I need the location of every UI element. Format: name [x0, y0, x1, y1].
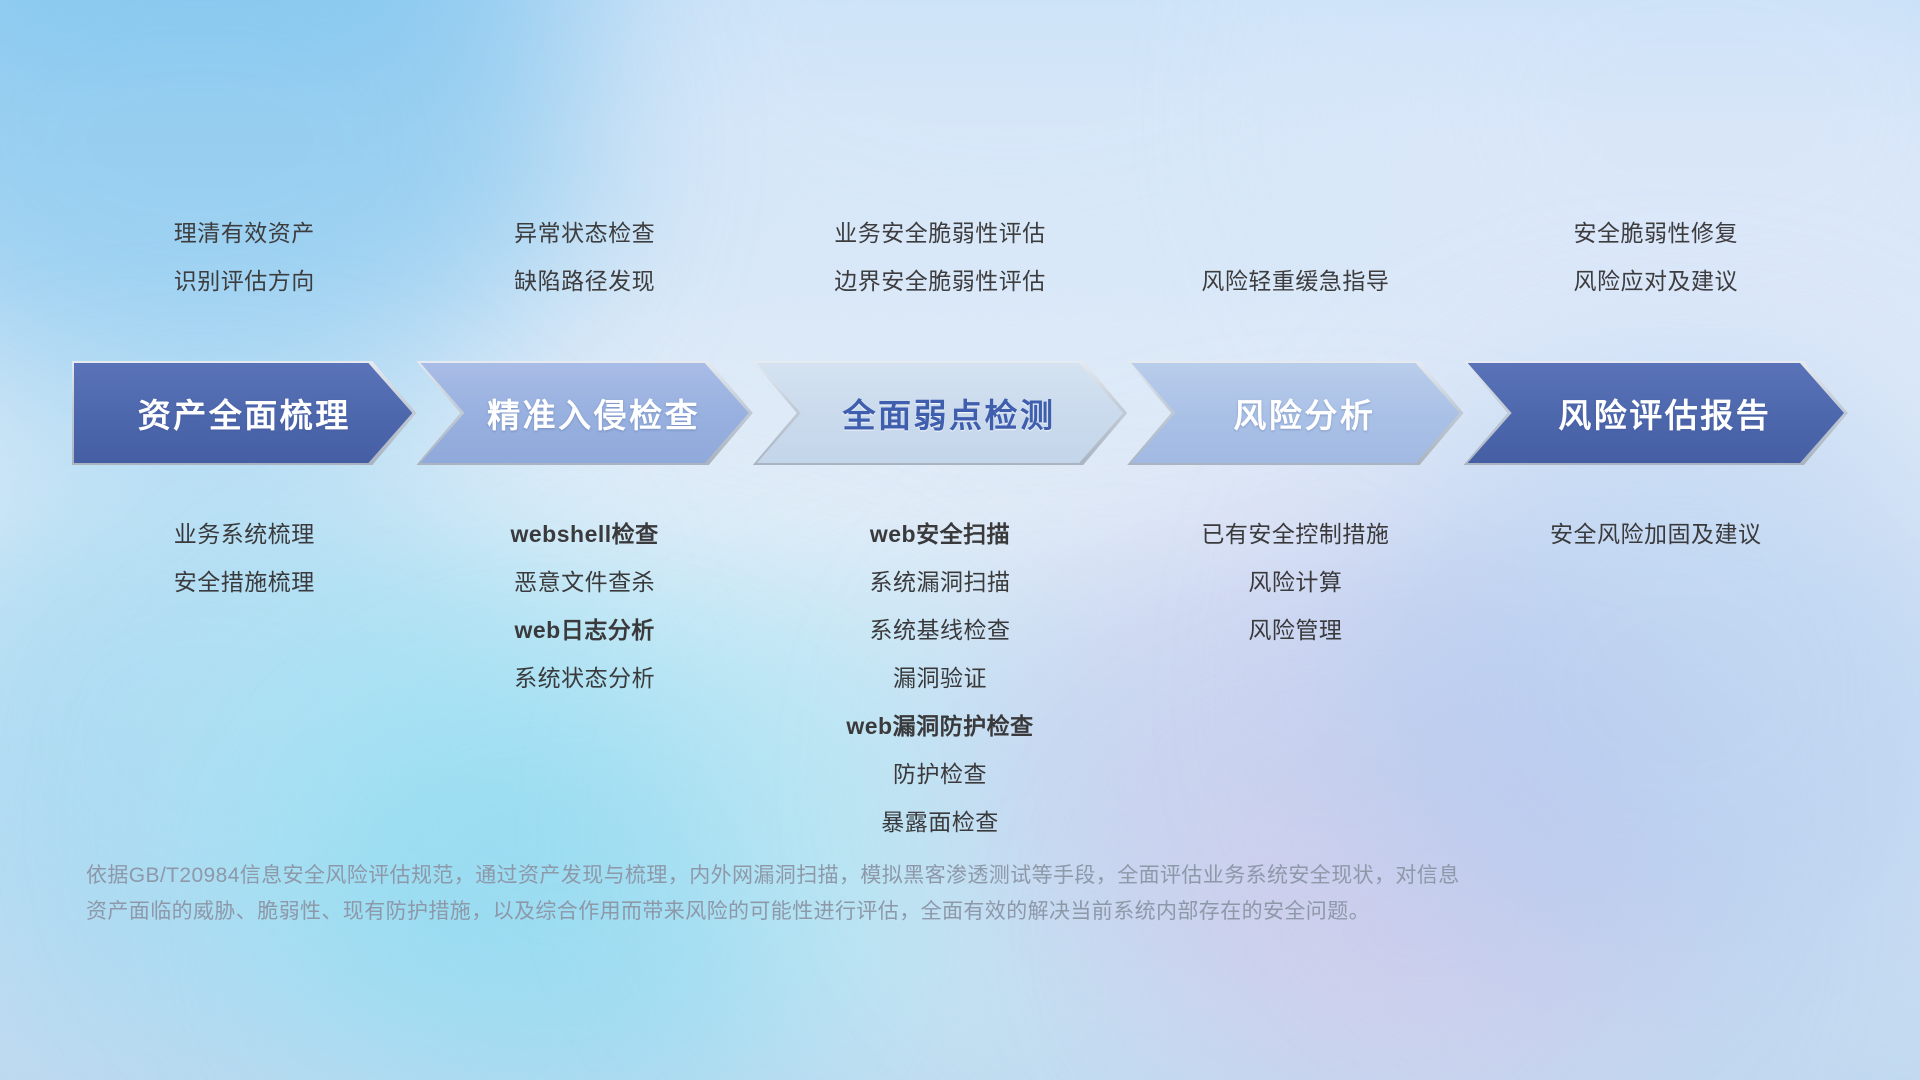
stage-label-3: 全面弱点检测 — [753, 389, 1127, 437]
bottom-item: 恶意文件查杀 — [416, 558, 752, 606]
top-item: 识别评估方向 — [72, 257, 416, 305]
bottom-item: 安全措施梳理 — [72, 558, 416, 606]
bottom-item: 暴露面检查 — [753, 798, 1127, 846]
stage-top-items-1: 理清有效资产识别评估方向 — [72, 209, 416, 305]
process-stage-5[interactable]: 风险评估报告 — [1464, 361, 1848, 465]
bottom-item: 系统基线检查 — [753, 606, 1127, 654]
bottom-item: 系统状态分析 — [416, 654, 752, 702]
stage-top-items-2: 异常状态检查缺陷路径发现 — [416, 209, 752, 305]
top-item: 风险应对及建议 — [1464, 257, 1848, 305]
diagram-canvas: 理清有效资产识别评估方向业务系统梳理安全措施梳理异常状态检查缺陷路径发现webs… — [0, 0, 1920, 1080]
bottom-item: 已有安全控制措施 — [1127, 510, 1463, 558]
process-stage-4[interactable]: 风险分析 — [1127, 361, 1463, 465]
stage-label-1: 资产全面梳理 — [72, 389, 416, 437]
process-stage-2[interactable]: 精准入侵检查 — [416, 361, 752, 465]
process-stage-1[interactable]: 资产全面梳理 — [72, 361, 416, 465]
top-item: 理清有效资产 — [72, 209, 416, 257]
stage-top-items-3: 业务安全脆弱性评估边界安全脆弱性评估 — [753, 209, 1127, 305]
footer-description: 依据GB/T20984信息安全风险评估规范，通过资产发现与梳理，内外网漏洞扫描，… — [86, 858, 1516, 930]
stage-bottom-items-3: web安全扫描系统漏洞扫描系统基线检查漏洞验证web漏洞防护检查防护检查暴露面检… — [753, 510, 1127, 846]
process-chevron-band: 资产全面梳理精准入侵检查全面弱点检测风险分析风险评估报告 — [72, 361, 1848, 465]
process-stage-3[interactable]: 全面弱点检测 — [753, 361, 1127, 465]
stage-bottom-items-4: 已有安全控制措施风险计算风险管理 — [1127, 510, 1463, 654]
bottom-item: 风险管理 — [1127, 606, 1463, 654]
bottom-item: 安全风险加固及建议 — [1464, 510, 1848, 558]
stage-column-5: 安全脆弱性修复风险应对及建议安全风险加固及建议 — [1464, 0, 1848, 1080]
top-item: 缺陷路径发现 — [416, 257, 752, 305]
stage-label-4: 风险分析 — [1127, 389, 1463, 437]
bottom-item: 漏洞验证 — [753, 654, 1127, 702]
top-item: 异常状态检查 — [416, 209, 752, 257]
bottom-item: 业务系统梳理 — [72, 510, 416, 558]
stage-label-2: 精准入侵检查 — [416, 389, 752, 437]
stage-bottom-items-2: webshell检查恶意文件查杀web日志分析系统状态分析 — [416, 510, 752, 702]
bottom-item: 风险计算 — [1127, 558, 1463, 606]
top-item: 业务安全脆弱性评估 — [753, 209, 1127, 257]
top-item: 边界安全脆弱性评估 — [753, 257, 1127, 305]
bottom-item: 防护检查 — [753, 750, 1127, 798]
stage-bottom-items-5: 安全风险加固及建议 — [1464, 510, 1848, 558]
top-item: 风险轻重缓急指导 — [1127, 257, 1463, 305]
footer-line-1: 依据GB/T20984信息安全风险评估规范，通过资产发现与梳理，内外网漏洞扫描，… — [86, 858, 1516, 894]
bottom-item: web安全扫描 — [753, 510, 1127, 558]
stage-top-items-5: 安全脆弱性修复风险应对及建议 — [1464, 209, 1848, 305]
stage-label-5: 风险评估报告 — [1464, 389, 1848, 437]
bottom-item: 系统漏洞扫描 — [753, 558, 1127, 606]
bottom-item: webshell检查 — [416, 510, 752, 558]
top-item: 安全脆弱性修复 — [1464, 209, 1848, 257]
bottom-item: web漏洞防护检查 — [753, 702, 1127, 750]
bottom-item: web日志分析 — [416, 606, 752, 654]
footer-line-2: 资产面临的威胁、脆弱性、现有防护措施，以及综合作用而带来风险的可能性进行评估，全… — [86, 894, 1516, 930]
stage-bottom-items-1: 业务系统梳理安全措施梳理 — [72, 510, 416, 606]
stage-top-items-4: 风险轻重缓急指导 — [1127, 257, 1463, 305]
